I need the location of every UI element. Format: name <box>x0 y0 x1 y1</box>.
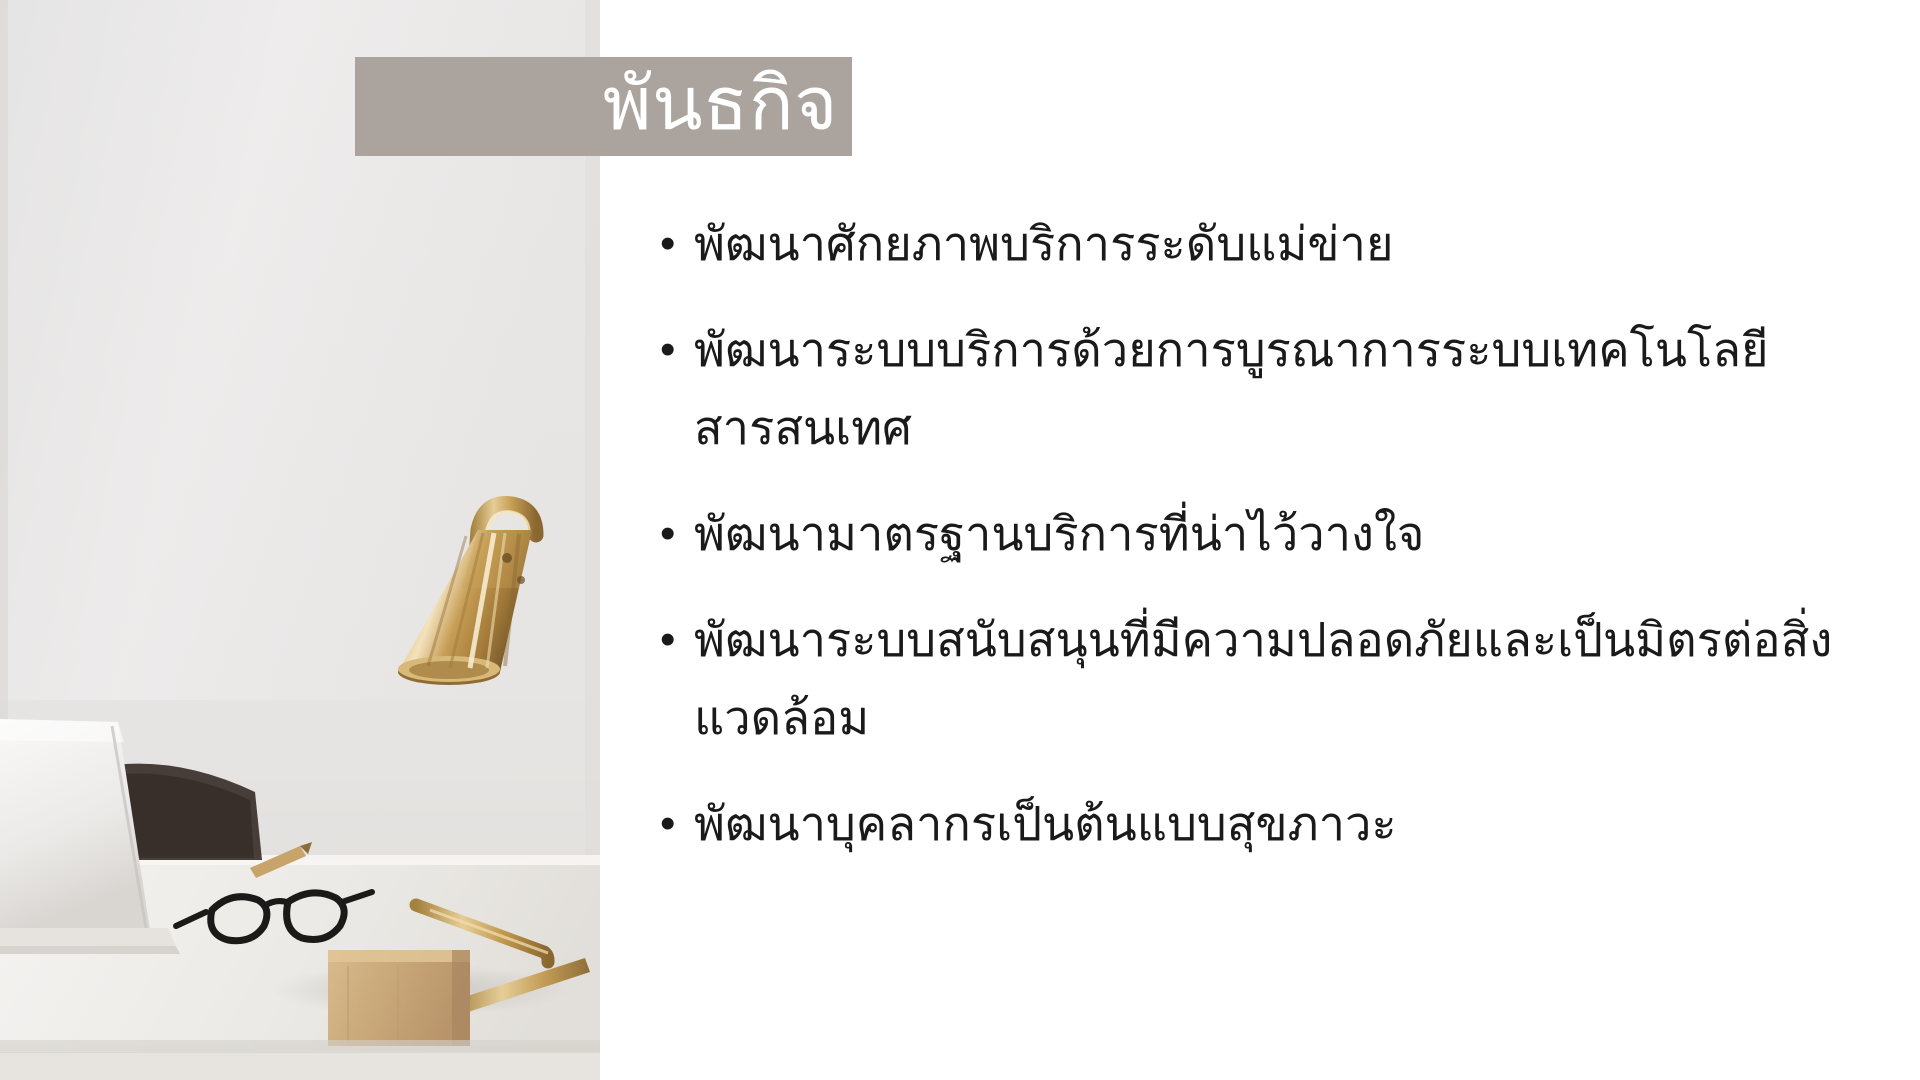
bullet-marker-icon: • <box>660 785 694 863</box>
mission-bullet-list: • พัฒนาศักยภาพบริการระดับแม่ข่าย • พัฒนา… <box>660 205 1890 863</box>
list-item: • พัฒนาบุคลากรเป็นต้นแบบสุขภาวะ <box>660 785 1890 863</box>
bullet-marker-icon: • <box>660 601 694 679</box>
bullet-text: พัฒนาระบบบริการด้วยการบูรณาการระบบเทคโนโ… <box>694 311 1890 467</box>
bullet-marker-icon: • <box>660 311 694 389</box>
list-item: • พัฒนาระบบสนับสนุนที่มีความปลอดภัยและเป… <box>660 601 1890 757</box>
bullet-text: พัฒนามาตรฐานบริการที่น่าไว้วางใจ <box>694 495 1890 573</box>
list-item: • พัฒนาระบบบริการด้วยการบูรณาการระบบเทคโ… <box>660 311 1890 467</box>
bullet-text: พัฒนาบุคลากรเป็นต้นแบบสุขภาวะ <box>694 785 1890 863</box>
slide-canvas: พันธกิจ • พัฒนาศักยภาพบริการระดับแม่ข่าย… <box>0 0 1920 1080</box>
bullet-marker-icon: • <box>660 205 694 283</box>
slide-title-banner: พันธกิจ <box>355 57 852 156</box>
desk-photo-illustration <box>0 0 600 1080</box>
slide-photo <box>0 0 600 1080</box>
slide-body: • พัฒนาศักยภาพบริการระดับแม่ข่าย • พัฒนา… <box>660 205 1890 891</box>
bullet-text: พัฒนาระบบสนับสนุนที่มีความปลอดภัยและเป็น… <box>694 601 1890 757</box>
page-title: พันธกิจ <box>603 67 838 141</box>
bullet-marker-icon: • <box>660 495 694 573</box>
list-item: • พัฒนามาตรฐานบริการที่น่าไว้วางใจ <box>660 495 1890 573</box>
bullet-text: พัฒนาศักยภาพบริการระดับแม่ข่าย <box>694 205 1890 283</box>
list-item: • พัฒนาศักยภาพบริการระดับแม่ข่าย <box>660 205 1890 283</box>
